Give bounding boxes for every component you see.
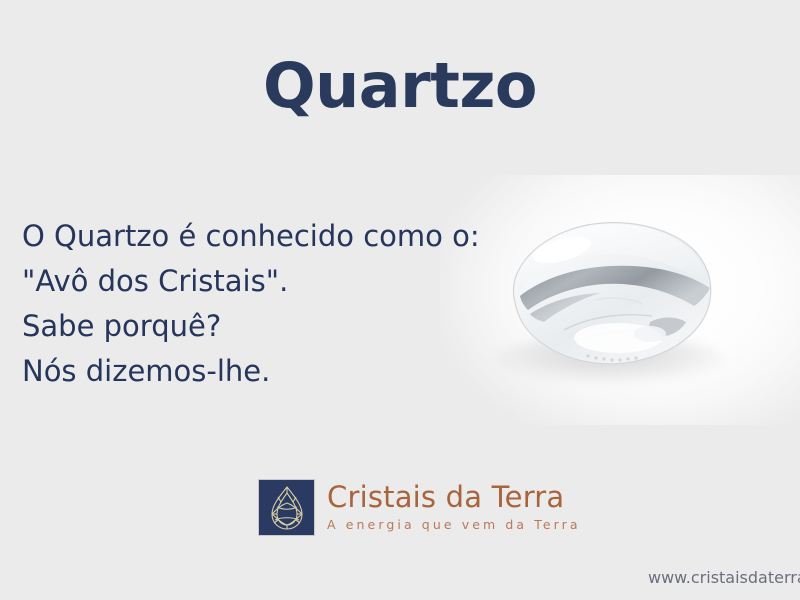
brand-logo: Cristais da Terra A energia que vem da T… bbox=[258, 479, 581, 536]
page-title: Quartzo bbox=[0, 52, 800, 120]
quartz-stone-illustration bbox=[500, 210, 720, 370]
body-line-4: Nós dizemos-lhe. bbox=[22, 349, 492, 394]
footer-url: www.cristaisdaterra. bbox=[648, 568, 800, 587]
logo-mark bbox=[258, 479, 315, 536]
body-line-2: "Avô dos Cristais". bbox=[22, 259, 492, 304]
body-text: O Quartzo é conhecido como o: "Avô dos C… bbox=[22, 214, 492, 394]
logo-brand-name: Cristais da Terra bbox=[327, 483, 581, 512]
logo-text-block: Cristais da Terra A energia que vem da T… bbox=[327, 483, 581, 532]
logo-tagline: A energia que vem da Terra bbox=[327, 519, 581, 532]
body-line-3: Sabe porquê? bbox=[22, 304, 492, 349]
slide-canvas: Quartzo O Quartzo é conhecido como o: "A… bbox=[0, 0, 800, 600]
body-line-1: O Quartzo é conhecido como o: bbox=[22, 214, 492, 259]
quartz-photo bbox=[440, 175, 800, 425]
faceted-teardrop-gem-icon bbox=[267, 485, 307, 531]
